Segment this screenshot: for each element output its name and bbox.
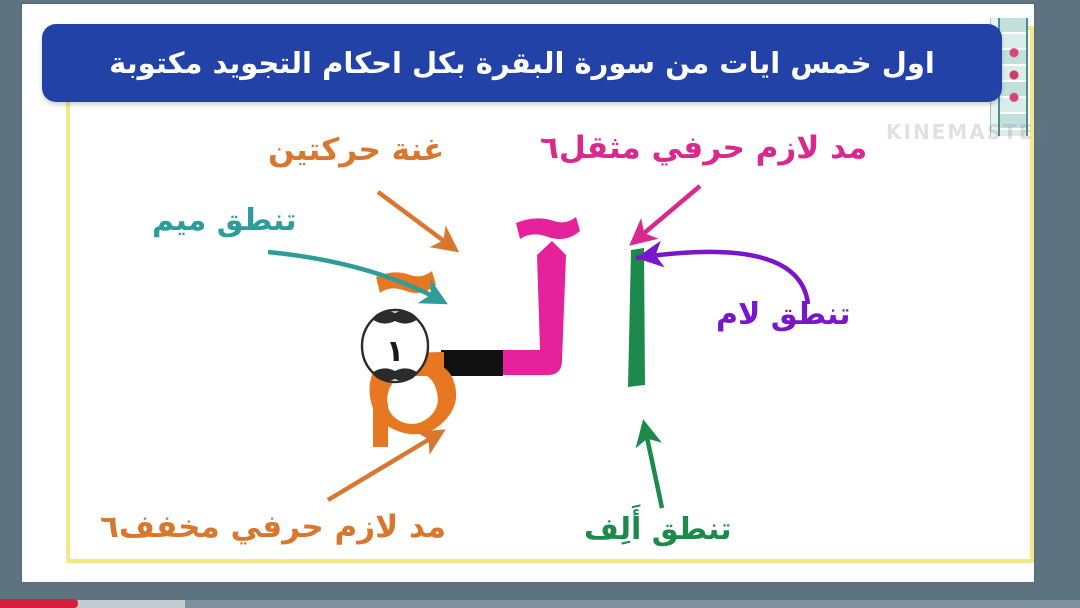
label-ghunna: غنة حركتين bbox=[268, 132, 444, 168]
label-mad-mukhaffaf: مد لازم حرفي مخفف٦ bbox=[100, 509, 446, 545]
title-banner: اول خمس ايات من سورة البقرة بكل احكام ال… bbox=[42, 24, 1002, 102]
madda-over-meem-glyph bbox=[376, 271, 436, 293]
letter-connector-glyph bbox=[441, 350, 503, 376]
letter-lam-glyph bbox=[500, 241, 566, 375]
label-tuntaq-lam: تنطق لام bbox=[716, 297, 851, 332]
video-progress-track[interactable] bbox=[0, 600, 1080, 608]
page-title: اول خمس ايات من سورة البقرة بكل احكام ال… bbox=[109, 46, 935, 80]
label-tuntaq-alif: تنطق أَلِف bbox=[584, 512, 732, 547]
letter-alif-glyph bbox=[628, 248, 645, 387]
video-player-stage: اول خمس ايات من سورة البقرة بكل احكام ال… bbox=[0, 0, 1080, 608]
madda-over-lam-glyph bbox=[516, 217, 580, 239]
label-mad-muthaqqal: مد لازم حرفي مثقل٦ bbox=[540, 130, 867, 166]
label-tuntaq-meem: تنطق ميم bbox=[152, 203, 297, 238]
video-progress-played[interactable] bbox=[0, 599, 78, 608]
verse-number-marker: ١ bbox=[355, 303, 435, 389]
verse-number-text: ١ bbox=[386, 334, 404, 369]
ornamental-border-icon bbox=[998, 18, 1028, 136]
